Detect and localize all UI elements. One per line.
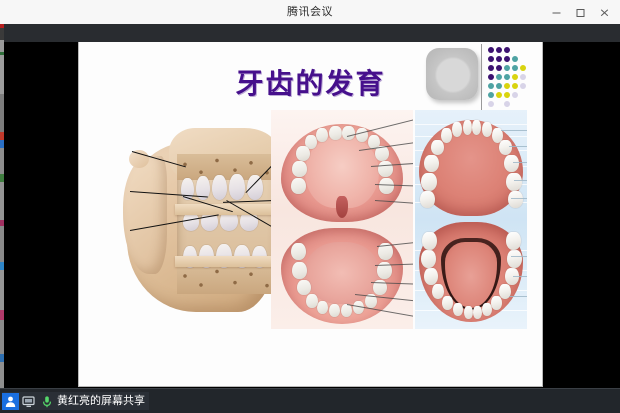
monitor-icon xyxy=(20,393,37,410)
decoration-dot xyxy=(496,56,502,62)
tooth xyxy=(378,161,393,177)
tooth-bud xyxy=(212,175,227,200)
decoration-dot xyxy=(488,83,494,89)
shared-slide: 牙齿的发育 xyxy=(78,42,543,387)
tooth xyxy=(432,284,444,299)
decoration-dot xyxy=(488,56,494,62)
tooth xyxy=(424,268,438,285)
tooth xyxy=(420,191,435,208)
tooth xyxy=(292,161,307,177)
decoration-dot xyxy=(504,83,510,89)
tooth xyxy=(329,304,340,317)
leader-line xyxy=(509,296,527,297)
tooth xyxy=(291,178,306,194)
decoration-dot xyxy=(488,74,494,80)
minimize-button[interactable] xyxy=(544,2,568,22)
bone-band-lower xyxy=(175,256,279,267)
tooth xyxy=(508,191,523,208)
decoration-dot xyxy=(512,74,518,80)
tooth xyxy=(379,178,394,194)
leader-line xyxy=(511,256,527,257)
close-button[interactable] xyxy=(592,2,616,22)
maximize-button[interactable] xyxy=(568,2,592,22)
leader-line xyxy=(509,146,527,147)
decoration-dot xyxy=(504,65,510,71)
decoration-dot xyxy=(504,74,510,80)
tencent-meeting-window: 腾讯会议 牙齿的发育 xyxy=(0,0,620,413)
decoration-dot xyxy=(488,101,494,107)
tooth xyxy=(463,120,472,135)
tooth xyxy=(329,126,342,140)
decoration-dot xyxy=(512,83,518,89)
leader-line xyxy=(513,162,527,163)
decoration-dot xyxy=(496,65,502,71)
window-title: 腾讯会议 xyxy=(0,0,620,24)
tooth xyxy=(422,232,437,250)
microphone-icon xyxy=(38,393,55,410)
tooth xyxy=(442,296,453,310)
decoration-dot xyxy=(488,92,494,98)
tooth xyxy=(292,262,307,279)
leader-line xyxy=(511,198,527,199)
tooth xyxy=(431,140,444,155)
tooth xyxy=(421,173,437,191)
meeting-toolbar-strip xyxy=(4,24,620,42)
tooth xyxy=(421,250,436,268)
leader-line xyxy=(513,276,527,277)
lower-arch-3d xyxy=(419,222,523,322)
dental-arch-3d-render xyxy=(415,110,527,329)
trabecular-bone-lower xyxy=(177,264,277,294)
tooth xyxy=(342,126,355,140)
decoration-dot xyxy=(520,65,526,71)
arch-caption xyxy=(271,112,413,119)
slide-decoration xyxy=(426,44,534,118)
jaw-anatomy-illustration xyxy=(97,110,287,350)
decoration-dot xyxy=(504,101,510,107)
tooth xyxy=(297,280,311,295)
tooth xyxy=(472,120,481,135)
tooth xyxy=(507,250,522,268)
tooth xyxy=(341,304,352,317)
tooth xyxy=(317,301,328,314)
tooth xyxy=(452,122,462,137)
dental-arch-illustration xyxy=(271,110,413,329)
tooth xyxy=(316,128,328,142)
tooth xyxy=(424,155,439,172)
upper-dental-arch xyxy=(281,124,403,222)
tooth xyxy=(506,173,522,191)
tooth xyxy=(464,306,473,319)
tooth xyxy=(306,294,318,308)
windows-taskbar: 黄红亮的屏幕共享 xyxy=(0,388,620,413)
tooth xyxy=(506,232,521,250)
tooth xyxy=(499,140,512,155)
decoration-dot xyxy=(496,83,502,89)
tooth-bud xyxy=(229,174,245,200)
decoration-dot xyxy=(520,83,526,89)
leader-line xyxy=(514,180,527,181)
decoration-dot xyxy=(496,74,502,80)
tooth xyxy=(504,155,519,172)
tooth xyxy=(491,296,502,310)
person-icon xyxy=(2,393,19,410)
decoration-dot xyxy=(520,74,526,80)
vertical-divider-line xyxy=(481,44,482,118)
decoration-dot xyxy=(512,92,518,98)
window-titlebar: 腾讯会议 xyxy=(0,0,620,25)
decoration-dot xyxy=(512,56,518,62)
tooth xyxy=(291,243,306,260)
window-controls xyxy=(544,0,616,24)
taskbar-item-screen-share[interactable]: 黄红亮的屏幕共享 xyxy=(2,392,149,410)
tooth xyxy=(441,128,452,143)
decoration-dot xyxy=(488,65,494,71)
decoration-dot xyxy=(496,92,502,98)
taskbar-item-label: 黄红亮的屏幕共享 xyxy=(56,392,145,410)
decoration-dot xyxy=(504,47,510,53)
tooth xyxy=(296,146,310,161)
leader-line xyxy=(501,130,527,131)
rounded-square-shape xyxy=(426,48,478,100)
decoration-dot xyxy=(512,65,518,71)
dot-grid-pattern xyxy=(488,47,534,113)
jaw-artwork xyxy=(127,128,277,328)
tooth xyxy=(473,306,482,319)
decoration-dot xyxy=(488,47,494,53)
uvula xyxy=(336,196,348,218)
decoration-dot xyxy=(504,56,510,62)
decoration-dot xyxy=(504,92,510,98)
tooth xyxy=(453,303,463,316)
upper-arch-3d xyxy=(419,120,523,216)
tooth xyxy=(482,122,492,137)
decoration-dot xyxy=(496,47,502,53)
